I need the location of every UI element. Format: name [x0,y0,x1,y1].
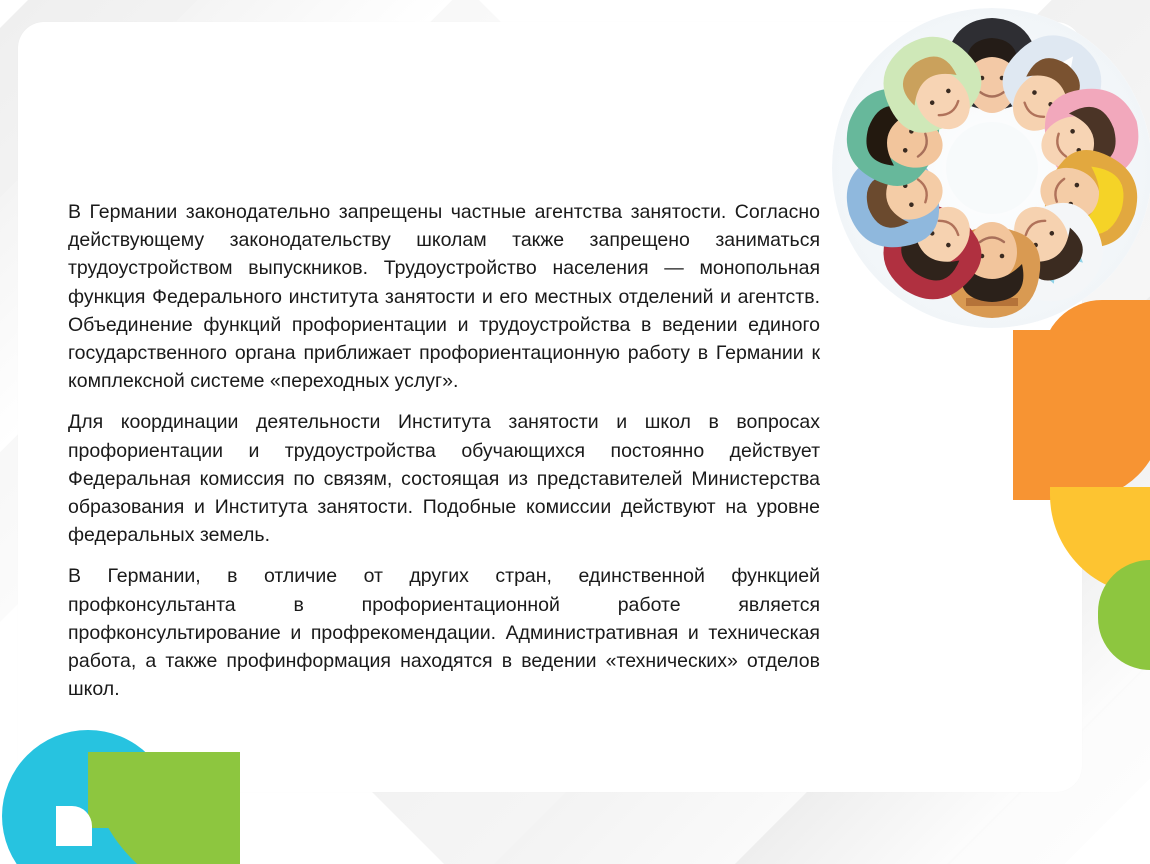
paragraph-2: Для координации деятельности Института з… [68,408,820,549]
slide: В Германии законодательно запрещены част… [0,0,1150,864]
green-square-shape [88,752,164,828]
orange-shape-lower [1013,330,1150,500]
paragraph-1: В Германии законодательно запрещены част… [68,198,820,395]
white-notch-shape [56,806,92,846]
paragraph-3: В Германии, в отличие от других стран, е… [68,562,820,703]
people-circle-photo [832,8,1150,328]
body-text: В Германии законодательно запрещены част… [68,198,820,703]
